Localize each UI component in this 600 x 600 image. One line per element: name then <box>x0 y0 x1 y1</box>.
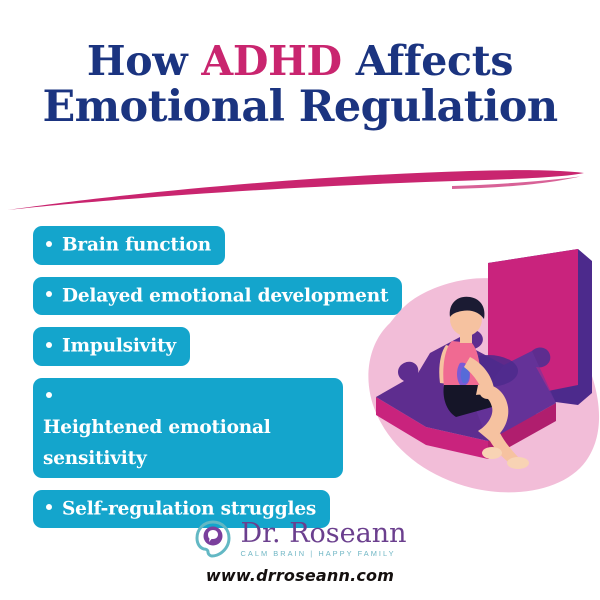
bullet-dot-icon <box>46 241 52 247</box>
title-word-how: How <box>87 37 187 85</box>
bullet-item-brain-function[interactable]: Brain function <box>33 226 225 265</box>
infographic-poster: How ADHD Affects Emotional Regulation Br… <box>0 0 600 600</box>
pink-swoosh-underline-icon <box>0 158 600 220</box>
bullet-item-delayed-emotional-development[interactable]: Delayed emotional development <box>33 277 402 316</box>
figure-hand <box>480 387 496 399</box>
dr-roseann-head-speech-bubble-logo-icon <box>193 519 233 559</box>
bullet-label: Brain function <box>62 235 211 256</box>
logo-wordmark: Dr. Roseann CALM BRAIN | HAPPY FAMILY <box>240 520 406 557</box>
bullet-label-line-2: sensitivity <box>43 448 147 469</box>
bullet-label: Self-regulation struggles <box>62 498 316 519</box>
brand-logo: Dr. Roseann CALM BRAIN | HAPPY FAMILY <box>0 519 600 559</box>
bullet-label: Delayed emotional development <box>62 285 388 306</box>
bullet-dot-icon <box>46 504 52 510</box>
bullet-dot-icon <box>46 291 52 297</box>
bullet-dot-icon <box>46 392 52 398</box>
page-title: How ADHD Affects Emotional Regulation <box>0 40 600 130</box>
person-sitting-on-puzzle-piece-illustration <box>360 245 600 505</box>
website-url[interactable]: www.drroseann.com <box>0 566 600 585</box>
logo-tagline: CALM BRAIN | HAPPY FAMILY <box>240 550 406 557</box>
figure-foot-back <box>482 447 502 459</box>
bullet-label: Impulsivity <box>62 336 176 357</box>
title-word-affects: Affects <box>356 37 513 85</box>
title-line-2: Emotional Regulation <box>0 84 600 130</box>
title-line-1: How ADHD Affects <box>0 40 600 84</box>
figure-foot <box>507 457 529 469</box>
bullet-item-heightened-emotional-sensitivity[interactable]: Heightened emotionalsensitivity <box>33 378 343 478</box>
bullet-dot-icon <box>46 342 52 348</box>
bullet-item-impulsivity[interactable]: Impulsivity <box>33 327 190 366</box>
bullet-label: Heightened emotionalsensitivity <box>43 412 315 474</box>
title-word-adhd: ADHD <box>201 37 341 85</box>
logo-name: Dr. Roseann <box>240 520 406 547</box>
bullet-label-line-1: Heightened emotional <box>43 417 271 438</box>
